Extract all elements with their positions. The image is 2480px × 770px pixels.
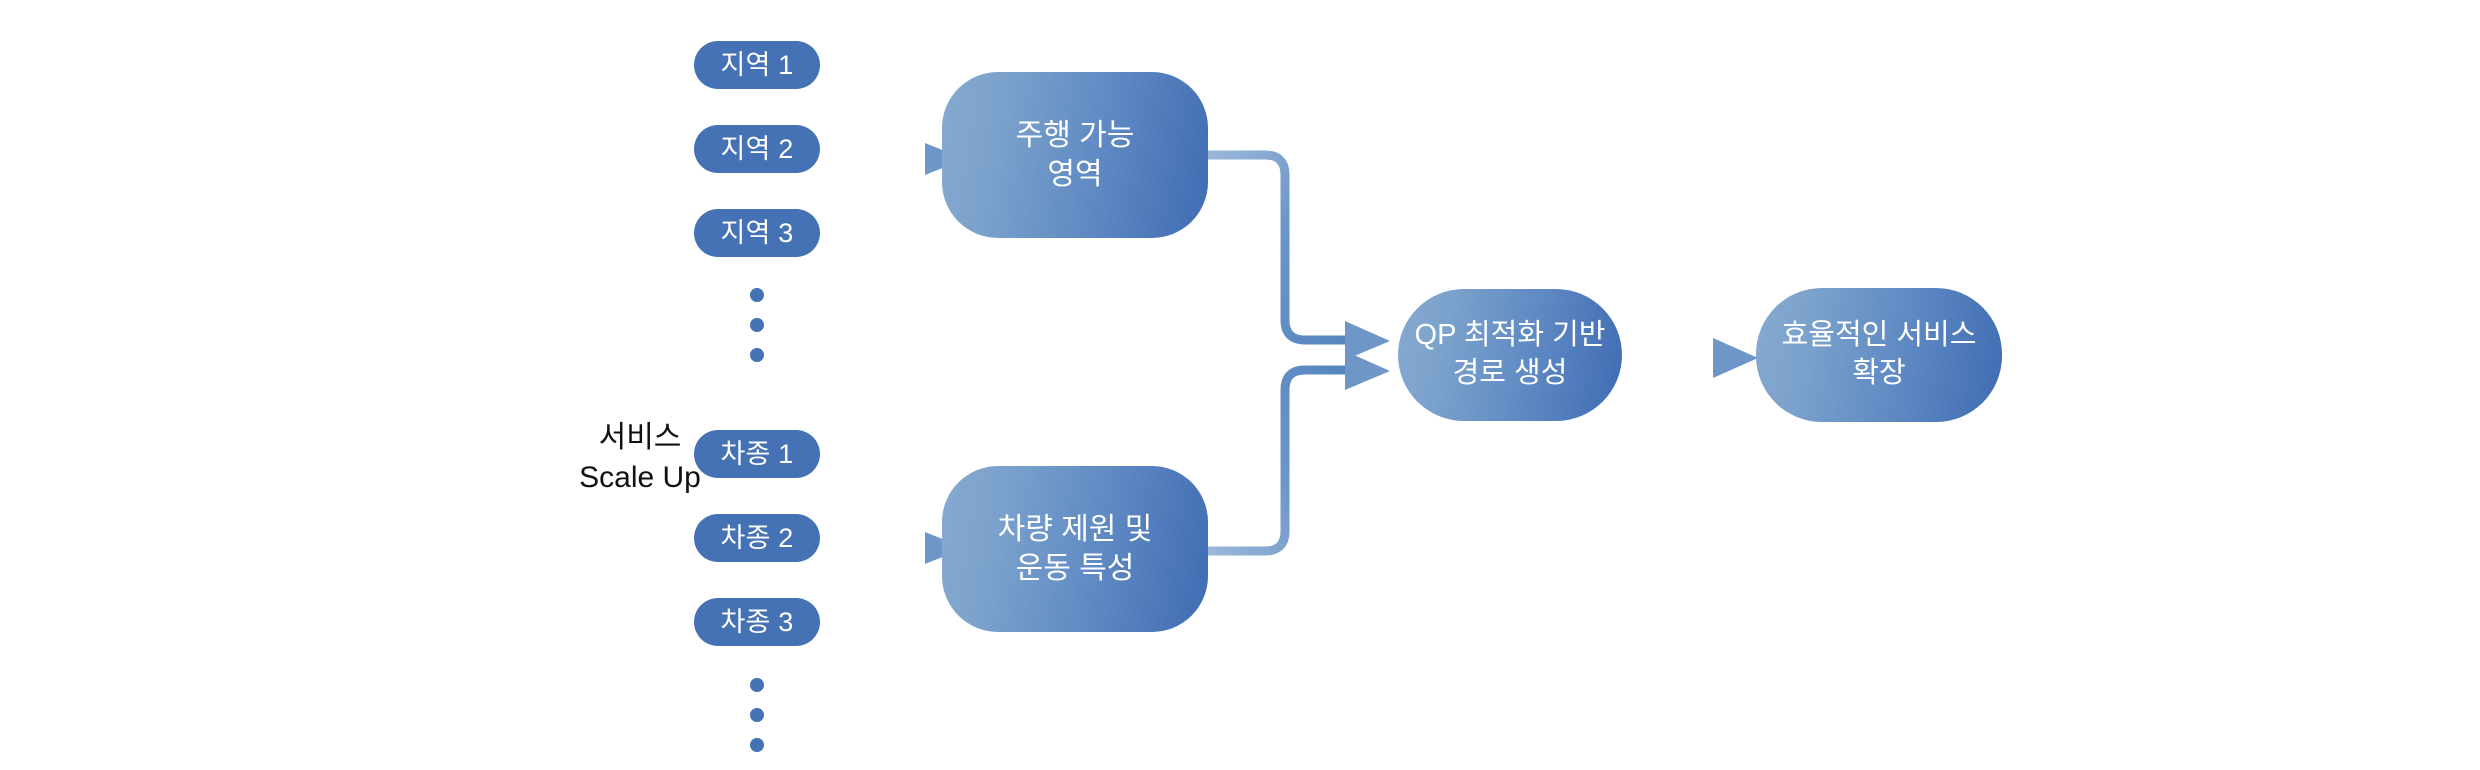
dot-icon (750, 738, 764, 752)
dot-icon (750, 348, 764, 362)
node-qp-path-generation[interactable]: QP 최적화 기반 경로 생성 (1398, 289, 1622, 421)
diagram-canvas: 서비스 Scale Up 지역 1 지역 2 지역 3 차종 1 차종 2 차종… (0, 0, 2480, 770)
connector-qp-to-service-expansion (1630, 338, 1758, 378)
connector-drivable-area-to-qp (1206, 155, 1390, 360)
node-service-expansion[interactable]: 효율적인 서비스 확장 (1756, 288, 2002, 422)
ellipsis-dots-vehicles (748, 678, 766, 752)
pill-region-2[interactable]: 지역 2 (694, 125, 820, 173)
pill-region-1[interactable]: 지역 1 (694, 41, 820, 89)
pill-vehicle-2[interactable]: 차종 2 (694, 514, 820, 562)
pill-vehicle-3[interactable]: 차종 3 (694, 598, 820, 646)
dot-icon (750, 288, 764, 302)
connector-vehicle-spec-to-qp (1206, 351, 1390, 551)
ellipsis-dots-regions (748, 288, 766, 362)
dot-icon (750, 708, 764, 722)
pill-region-3[interactable]: 지역 3 (694, 209, 820, 257)
dot-icon (750, 318, 764, 332)
node-vehicle-spec[interactable]: 차량 제원 및 운동 특성 (942, 466, 1208, 632)
node-drivable-area[interactable]: 주행 가능 영역 (942, 72, 1208, 238)
pill-vehicle-1[interactable]: 차종 1 (694, 430, 820, 478)
dot-icon (750, 678, 764, 692)
connector-layer (0, 0, 2480, 770)
